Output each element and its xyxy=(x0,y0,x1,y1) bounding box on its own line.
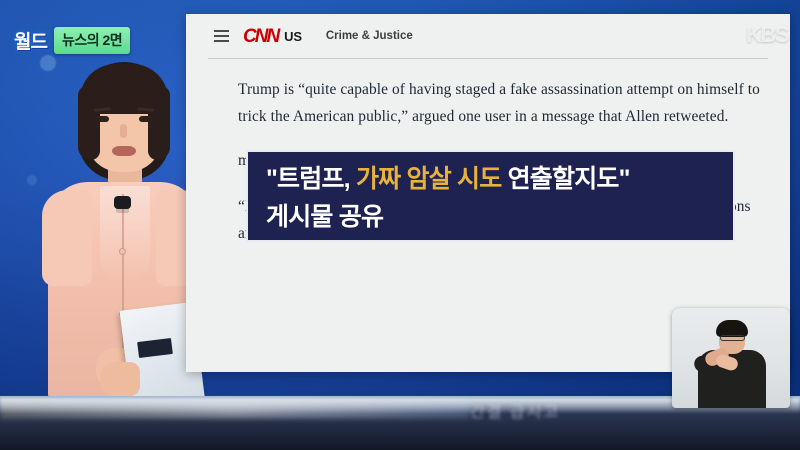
sign-language-interpreter-box xyxy=(672,308,790,408)
caption-line-2: 게시물 공유 xyxy=(266,198,733,236)
kbs-wordmark: KBS xyxy=(746,22,788,48)
caption-line1-post: 연출할지도" xyxy=(501,165,629,193)
anchor-nose xyxy=(120,124,127,138)
interpreter-glasses xyxy=(720,335,745,341)
cnn-edition-label[interactable]: US xyxy=(284,29,302,44)
anchor-eye-left xyxy=(96,116,109,122)
anchor-shoulder-left xyxy=(42,190,92,286)
anchor-hair-left xyxy=(78,86,100,160)
caption-line1-highlight: 가짜 암살 시도 xyxy=(356,165,502,193)
hamburger-menu-icon[interactable] xyxy=(214,30,229,42)
article-paragraph: Trump is “quite capable of having staged… xyxy=(238,76,762,130)
anchor-lapel-microphone xyxy=(114,196,131,209)
cnn-logo[interactable]: CNN xyxy=(243,27,278,46)
anchor-jacket-button xyxy=(119,248,126,255)
anchor-hand-front xyxy=(100,362,140,396)
cnn-site-header: CNN US Crime & Justice xyxy=(186,14,790,58)
cnn-section-breadcrumb[interactable]: Crime & Justice xyxy=(326,30,413,42)
anchor-mouth xyxy=(112,146,136,156)
header-divider xyxy=(208,58,768,59)
anchor-eye-right xyxy=(139,116,152,122)
program-logo-badge: 뉴스의 2면 xyxy=(54,27,130,54)
caption-line1-pre: "트럼프, xyxy=(266,165,356,193)
caption-line-1: "트럼프, 가짜 암살 시도 연출할지도" xyxy=(266,160,733,198)
program-logo-world: 월드 xyxy=(14,27,47,54)
cnn-brand[interactable]: CNN US xyxy=(243,27,302,46)
anchor-hair-right xyxy=(148,86,170,160)
program-logo: 월드 뉴스의 2면 xyxy=(14,27,130,53)
news-caption-overlay: "트럼프, 가짜 암살 시도 연출할지도" 게시물 공유 xyxy=(246,150,735,242)
kbs-watermark-logo: KBS xyxy=(746,22,788,48)
